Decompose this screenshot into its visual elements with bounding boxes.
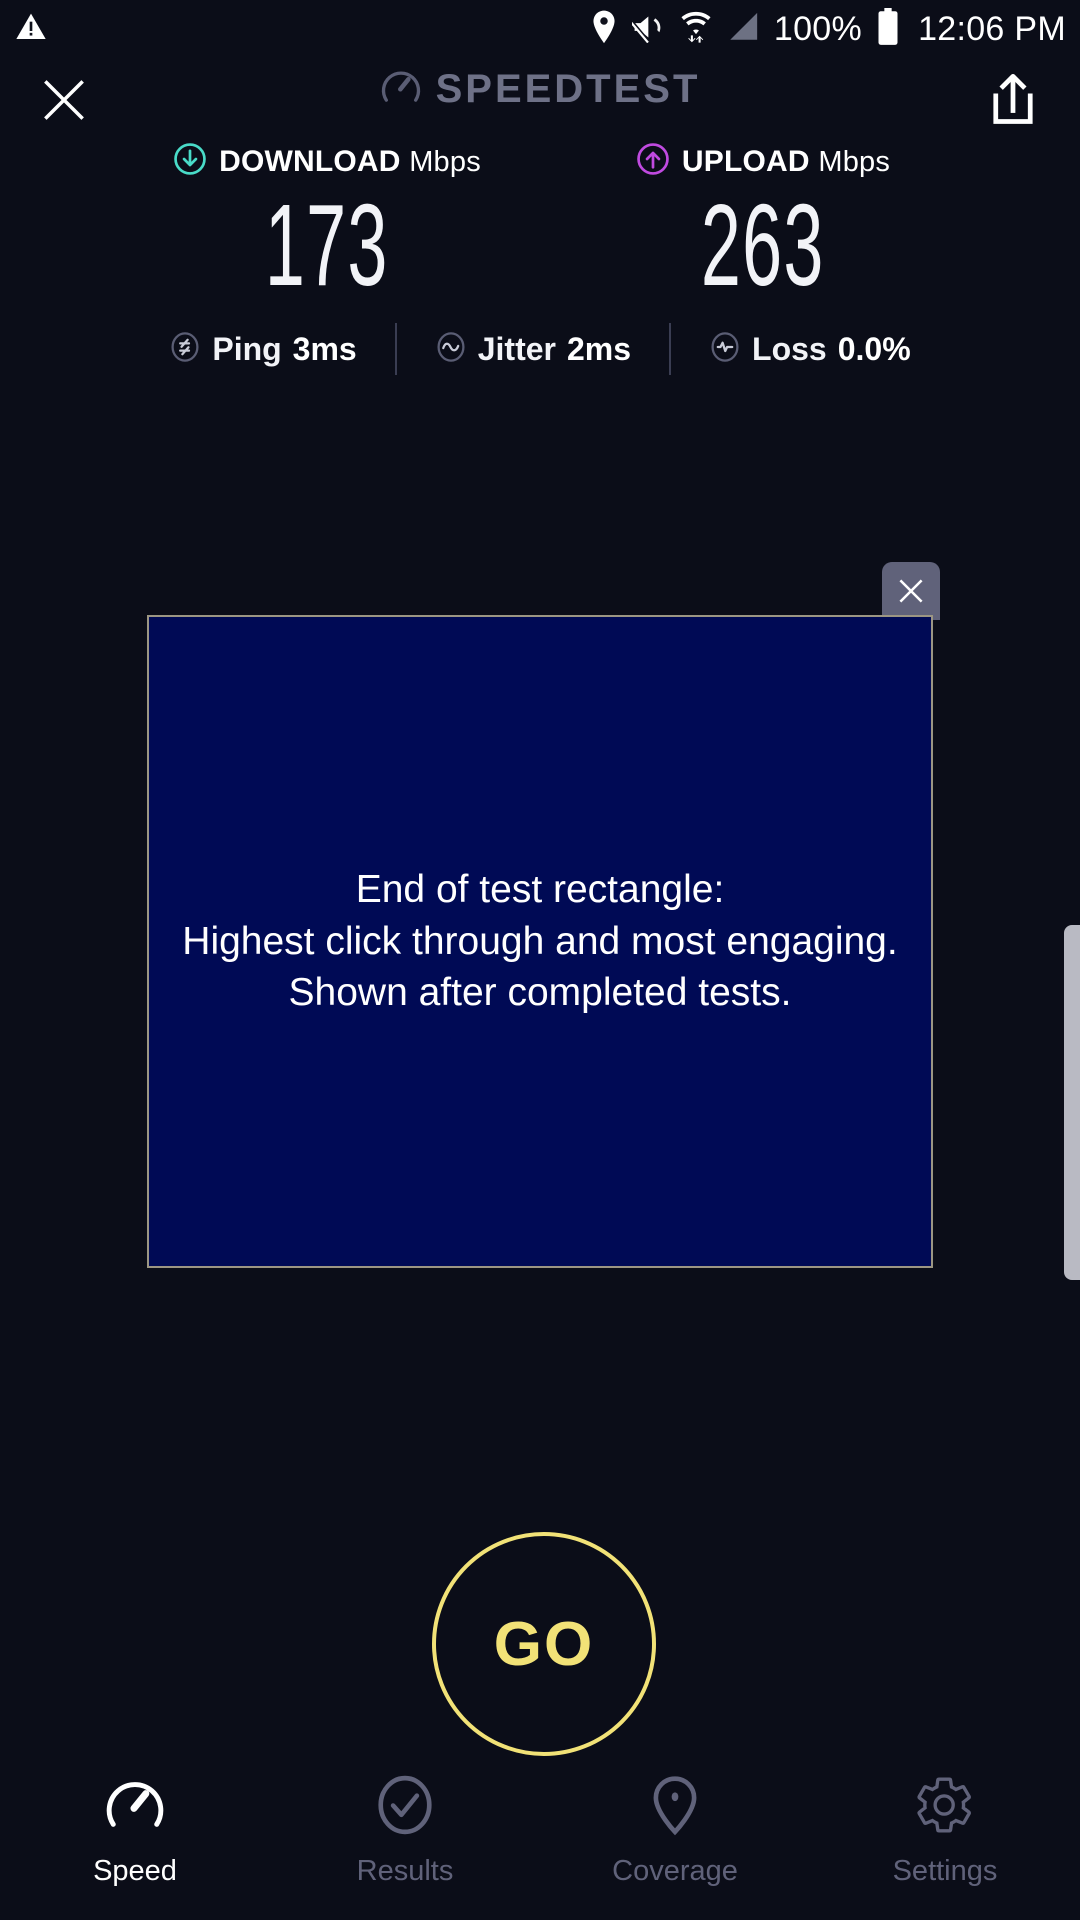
page-title: SPEEDTEST — [436, 67, 701, 112]
loss-label: Loss — [752, 331, 827, 368]
go-button-label: GO — [494, 1609, 594, 1680]
status-bar-right: 100% 12:06 PM — [590, 8, 1066, 51]
upload-result: UPLOAD Mbps 263 — [573, 142, 953, 303]
status-bar-clock: 12:06 PM — [918, 10, 1066, 49]
ad-text: End of test rectangle: Highest click thr… — [182, 864, 897, 1020]
ad-banner[interactable]: End of test rectangle: Highest click thr… — [147, 615, 933, 1268]
battery-full-icon — [876, 8, 900, 51]
nav-item-coverage[interactable]: Coverage — [540, 1774, 810, 1888]
cellular-signal-icon — [726, 11, 760, 48]
close-icon — [894, 574, 928, 608]
ping-stat: Ping 3ms — [131, 331, 394, 368]
nav-label-speed: Speed — [93, 1855, 177, 1888]
ad-line-2: Highest click through and most engaging. — [182, 916, 897, 968]
ad-close-button[interactable] — [882, 562, 940, 620]
jitter-label: Jitter — [478, 331, 556, 368]
nav-item-settings[interactable]: Settings — [810, 1774, 1080, 1888]
location-pin-icon — [590, 10, 618, 49]
share-button[interactable] — [988, 72, 1038, 128]
download-header: DOWNLOAD Mbps — [173, 142, 481, 181]
loss-value: 0.0% — [838, 331, 911, 368]
share-icon — [988, 72, 1038, 128]
loss-stat: Loss 0.0% — [671, 331, 949, 368]
bottom-navigation: Speed Results Coverage Settings — [0, 1760, 1080, 1920]
go-button[interactable]: GO — [432, 1532, 656, 1756]
ad-line-1: End of test rectangle: — [182, 864, 897, 916]
speedometer-icon — [104, 1774, 166, 1841]
check-circle-icon — [374, 1774, 436, 1841]
speedometer-icon — [380, 66, 422, 113]
nav-item-results[interactable]: Results — [270, 1774, 540, 1888]
download-result: DOWNLOAD Mbps 173 — [137, 142, 517, 303]
upload-label: UPLOAD Mbps — [682, 145, 890, 179]
status-bar-left — [14, 11, 48, 48]
jitter-stat: Jitter 2ms — [397, 331, 669, 368]
download-label: DOWNLOAD Mbps — [219, 145, 481, 179]
app-title-group: SPEEDTEST — [0, 66, 1080, 113]
gear-icon — [914, 1774, 976, 1841]
nav-label-settings: Settings — [893, 1855, 998, 1888]
upload-value: 263 — [701, 187, 825, 303]
page-scrollbar[interactable] — [1064, 925, 1080, 1280]
speed-results-row: DOWNLOAD Mbps 173 UPLOAD Mbps 263 — [0, 142, 1080, 303]
mute-icon — [632, 11, 666, 48]
ad-line-3: Shown after completed tests. — [182, 967, 897, 1019]
connection-stats-row: Ping 3ms Jitter 2ms Loss 0.0% — [0, 323, 1080, 375]
results-panel: DOWNLOAD Mbps 173 UPLOAD Mbps 263 — [0, 142, 1080, 375]
nav-label-results: Results — [357, 1855, 454, 1888]
nav-item-speed[interactable]: Speed — [0, 1774, 270, 1888]
upload-header: UPLOAD Mbps — [636, 142, 890, 181]
download-arrow-icon — [173, 142, 207, 181]
upload-arrow-icon — [636, 142, 670, 181]
ping-label: Ping — [212, 331, 281, 368]
ping-icon — [169, 331, 201, 368]
status-bar: 100% 12:06 PM — [0, 0, 1080, 58]
warning-triangle-icon — [14, 11, 48, 48]
ping-value: 3ms — [293, 331, 357, 368]
wifi-icon — [680, 9, 712, 50]
download-value: 173 — [265, 187, 389, 303]
app-header: SPEEDTEST — [0, 58, 1080, 142]
loss-icon — [709, 331, 741, 368]
nav-label-coverage: Coverage — [612, 1855, 738, 1888]
jitter-value: 2ms — [567, 331, 631, 368]
map-pin-icon — [644, 1774, 706, 1841]
battery-percent-label: 100% — [774, 10, 862, 49]
jitter-icon — [435, 331, 467, 368]
